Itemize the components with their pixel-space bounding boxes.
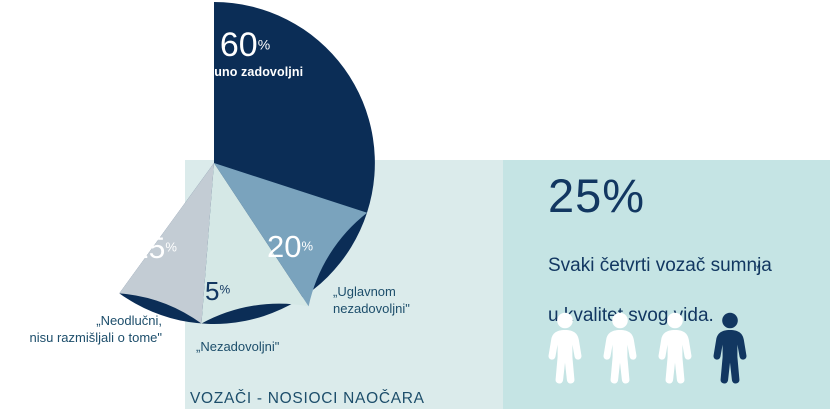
footnote-asterisk: *	[756, 262, 761, 276]
stat-description-line1: Svaki četvrti vozač sumnja	[548, 253, 772, 278]
pie-label-text-potpuno-zadovoljni: potpuno zadovoljni	[185, 65, 305, 79]
percent-sign-15: %	[165, 240, 177, 255]
pie-label-nezadovoljni: 5%	[205, 278, 230, 305]
pie-value-60: 60	[220, 26, 258, 64]
pie-value-15: 15	[132, 232, 165, 265]
percent-sign-60: %	[258, 37, 270, 53]
caption-neodlucni: „Neodlučni, nisu razmišljali o tome"	[2, 312, 162, 346]
percent-sign-20: %	[301, 239, 313, 254]
caption-uglavnom-line1: „Uglavnom	[333, 283, 410, 300]
people-pictogram-group	[546, 312, 749, 384]
panel-left-title: VOZAČI - NOSIOCI NAOČARA	[190, 390, 425, 408]
stat-percentage: 25%	[548, 172, 645, 219]
person-icon-3	[656, 312, 694, 384]
pie-label-potpuno-zadovoljni: 60% potpuno zadovoljni	[185, 28, 305, 79]
caption-neodlucni-line1: „Neodlučni,	[2, 312, 162, 329]
pie-label-neodlucni: 15%	[132, 234, 177, 264]
infographic-canvas: 60% potpuno zadovoljni 15% 20% 5% „Neodl…	[0, 0, 830, 409]
pie-value-20: 20	[267, 229, 301, 264]
caption-nezadovoljni: „Nezadovoljni"	[196, 338, 279, 355]
person-icon-1	[546, 312, 584, 384]
caption-nezadovoljni-line1: „Nezadovoljni"	[196, 338, 279, 355]
pie-value-5: 5	[205, 276, 219, 306]
pie-label-uglavnom: 20%	[267, 231, 313, 262]
percent-sign-5: %	[219, 283, 230, 297]
person-icon-4-highlighted	[711, 312, 749, 384]
caption-neodlucni-line2: nisu razmišljali o tome"	[2, 329, 162, 346]
caption-uglavnom-line2: nezadovoljni"	[333, 300, 410, 317]
caption-uglavnom-nezadovoljni: „Uglavnom nezadovoljni"	[333, 283, 410, 317]
person-icon-2	[601, 312, 639, 384]
